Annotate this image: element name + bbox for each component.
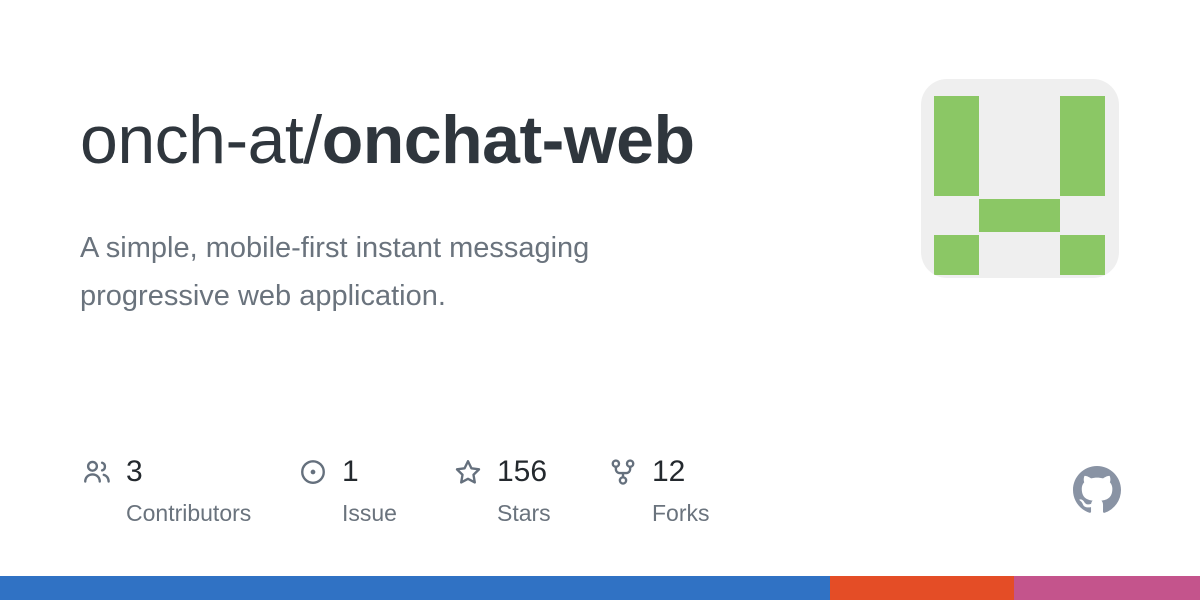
stat-issue-value: 1 bbox=[342, 455, 359, 489]
stat-contributors-top: 3 bbox=[80, 452, 143, 492]
star-icon bbox=[451, 455, 485, 489]
stat-issue-label: Issue bbox=[342, 498, 397, 528]
github-mark-icon bbox=[1073, 466, 1121, 514]
repository-name: onchat-web bbox=[322, 102, 695, 178]
stat-contributors-value: 3 bbox=[126, 455, 143, 489]
repository-info: onch-at/onchat-web A simple, mobile-firs… bbox=[80, 92, 840, 320]
repo-forked-icon bbox=[606, 455, 640, 489]
stat-stars-value: 156 bbox=[497, 455, 547, 489]
stat-issue: 1 Issue bbox=[296, 452, 451, 528]
repository-avatar-logo bbox=[921, 79, 1119, 278]
repository-social-preview-card: onch-at/onchat-web A simple, mobile-firs… bbox=[0, 0, 1200, 600]
stat-forks-top: 12 bbox=[606, 452, 685, 492]
stat-issue-top: 1 bbox=[296, 452, 359, 492]
repository-owner: onch-at/ bbox=[80, 102, 322, 178]
avatar-bar-right bbox=[1060, 96, 1105, 196]
page-title: onch-at/onchat-web bbox=[80, 92, 740, 188]
issue-opened-icon bbox=[296, 455, 330, 489]
language-bar bbox=[0, 576, 1200, 600]
stat-stars-top: 156 bbox=[451, 452, 547, 492]
stat-stars: 156 Stars bbox=[451, 452, 606, 528]
avatar-bar-bottom-right bbox=[1060, 235, 1105, 275]
avatar-glyph bbox=[921, 79, 1119, 278]
repository-stats: 3 Contributors 1 Issue bbox=[80, 452, 746, 528]
repository-description: A simple, mobile-first instant messaging… bbox=[80, 224, 720, 320]
avatar-bar-left bbox=[934, 96, 979, 196]
stat-contributors-label: Contributors bbox=[126, 498, 251, 528]
language-segment-pink bbox=[1014, 576, 1200, 600]
stat-forks-value: 12 bbox=[652, 455, 685, 489]
stat-forks-label: Forks bbox=[652, 498, 710, 528]
avatar-bar-middle bbox=[979, 199, 1060, 232]
stat-contributors: 3 Contributors bbox=[80, 452, 296, 528]
stat-stars-label: Stars bbox=[497, 498, 551, 528]
stat-forks: 12 Forks bbox=[606, 452, 746, 528]
language-segment-blue bbox=[0, 576, 830, 600]
avatar-bar-bottom-left bbox=[934, 235, 979, 275]
people-icon bbox=[80, 455, 114, 489]
language-segment-orange bbox=[830, 576, 1014, 600]
